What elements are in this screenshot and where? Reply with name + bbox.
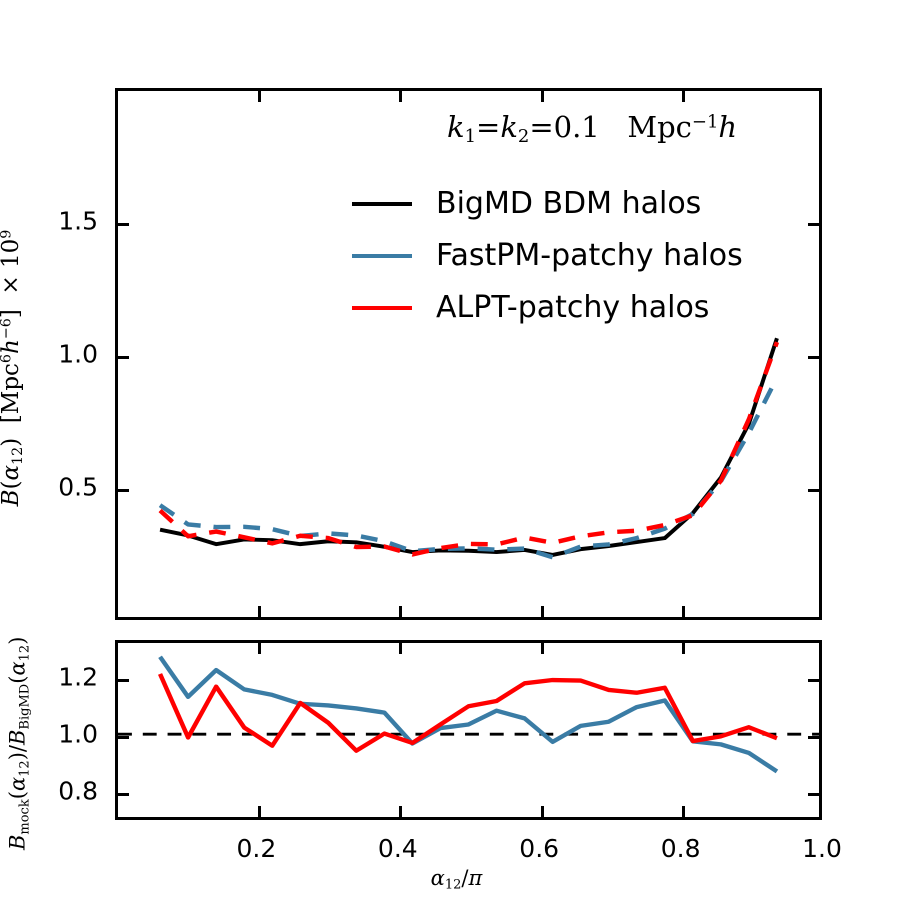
y-tick [118, 679, 129, 682]
y-tick [808, 793, 819, 796]
x-tick [399, 643, 402, 654]
x-tick-label: 1.0 [802, 834, 842, 863]
k-annotation: k1=k2=0.1 Mpc−1h [447, 110, 737, 147]
x-tick [541, 91, 544, 102]
ratio-panel [115, 640, 822, 820]
x-tick [258, 806, 261, 817]
x-tick-label: 0.8 [661, 834, 701, 863]
legend-line-swatch [352, 254, 412, 258]
legend-entry-label: FastPM-patchy halos [436, 241, 743, 271]
series-line-2 [160, 378, 777, 558]
legend-entry-label: BigMD BDM halos [436, 189, 701, 219]
series-line-1 [160, 657, 777, 772]
x-tick [399, 806, 402, 817]
y-tick [118, 793, 129, 796]
bispectrum-panel [115, 88, 822, 620]
legend: BigMD BDM halosFastPM-patchy halosALPT-p… [352, 178, 743, 334]
x-tick [258, 643, 261, 654]
x-tick [541, 606, 544, 617]
x-tick [682, 606, 685, 617]
series-line-1 [160, 338, 777, 555]
y-tick [118, 736, 129, 739]
y-tick [118, 356, 129, 359]
y-tick [808, 736, 819, 739]
x-axis-label: α12/π [0, 866, 913, 893]
x-tick-label: 0.4 [378, 834, 418, 863]
legend-entry-2: FastPM-patchy halos [352, 230, 743, 282]
legend-line-swatch [352, 202, 412, 206]
bispectrum-y-axis-label: B(α12) [Mpc6h−6] × 109 [0, 188, 26, 548]
legend-entry-3: ALPT-patchy halos [352, 282, 743, 334]
y-tick [808, 356, 819, 359]
x-tick [541, 643, 544, 654]
x-tick [541, 806, 544, 817]
x-tick [399, 606, 402, 617]
legend-line-swatch [352, 306, 412, 310]
x-tick-label: 0.6 [519, 834, 559, 863]
bispectrum-plot-area [118, 91, 819, 617]
x-tick [258, 606, 261, 617]
legend-entry-1: BigMD BDM halos [352, 178, 743, 230]
y-tick [808, 223, 819, 226]
figure-canvas: 0.51.01.50.81.01.20.20.40.60.81.0 B(α12)… [0, 0, 913, 913]
x-tick [682, 91, 685, 102]
x-tick [682, 806, 685, 817]
x-tick [682, 643, 685, 654]
y-tick [808, 489, 819, 492]
x-tick [399, 91, 402, 102]
y-tick [118, 489, 129, 492]
x-tick [258, 91, 261, 102]
y-tick [118, 223, 129, 226]
x-tick-label: 0.2 [237, 834, 277, 863]
legend-entry-label: ALPT-patchy halos [436, 293, 709, 323]
y-tick [808, 679, 819, 682]
series-line-2 [160, 674, 777, 751]
ratio-y-axis-label: Bmock(α12)/BBigMD(α12) [6, 598, 33, 888]
ratio-plot-area [118, 643, 819, 817]
